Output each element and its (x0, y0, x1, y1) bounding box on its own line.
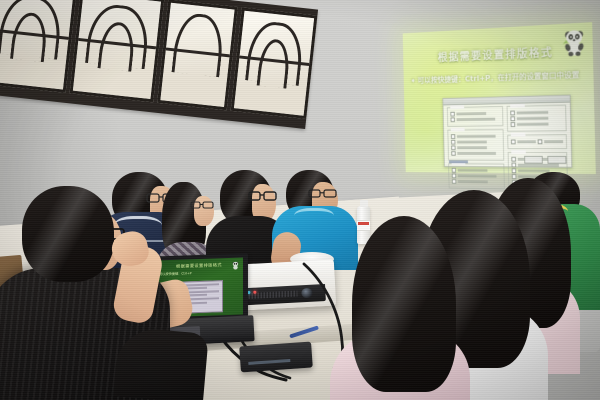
dialog-group (447, 129, 504, 161)
checkbox-icon[interactable] (450, 112, 454, 117)
dialog-row (452, 179, 501, 184)
dialog-row (510, 116, 562, 121)
dialog-label (518, 163, 559, 166)
dialog-row (451, 145, 500, 149)
dialog-group (507, 134, 567, 149)
dialog-label (457, 117, 495, 120)
dialog-label (544, 140, 563, 143)
bottle-cap (360, 200, 368, 207)
dialog-group-label (450, 105, 464, 109)
checkbox-icon[interactable] (511, 122, 516, 127)
dialog-help-link[interactable] (449, 160, 468, 163)
dialog-row (511, 121, 563, 126)
checkbox-icon[interactable] (511, 162, 516, 167)
dialog-row (451, 140, 500, 144)
dialog-ok-button[interactable] (524, 156, 543, 164)
checkbox-icon[interactable] (451, 134, 455, 139)
hair (22, 186, 114, 282)
bullet-marker-icon: ✦ (410, 77, 416, 87)
checkbox-icon[interactable] (452, 173, 456, 178)
checkbox-icon[interactable] (538, 139, 543, 144)
dialog-row (451, 134, 500, 139)
dialog-label (517, 140, 535, 143)
dialog-group-label (511, 133, 526, 137)
checkbox-icon[interactable] (451, 140, 455, 145)
dialog-group (507, 105, 567, 132)
dialog-group (448, 163, 505, 189)
dialog-label (517, 122, 548, 125)
hair-highlight (22, 186, 114, 282)
glasses-icon (248, 190, 278, 202)
checkbox-icon[interactable] (511, 157, 516, 162)
checkbox-icon[interactable] (510, 116, 515, 121)
checkbox-icon[interactable] (452, 168, 456, 173)
dialog-row (452, 168, 501, 173)
checkbox-icon[interactable] (512, 168, 517, 173)
dialog-group (447, 106, 504, 127)
classroom-photo: 根据需要设置排版格式 ✦可以按快捷键：Ctrl+P，在打开的设置窗口中设置 (0, 0, 600, 400)
dialog-group-label (451, 128, 465, 132)
adapter-stripe (248, 359, 290, 365)
dialog-label (457, 135, 495, 138)
dialog-row (451, 117, 500, 122)
collar (294, 208, 334, 227)
checkbox-icon[interactable] (451, 117, 455, 122)
hair (352, 216, 456, 392)
window-pane (0, 0, 77, 93)
checkbox-icon[interactable] (512, 174, 517, 179)
hair-highlight (352, 216, 456, 392)
window-pane (231, 7, 318, 119)
dialog-row (451, 151, 500, 155)
dialog-buttons (524, 156, 566, 164)
glasses-icon (190, 200, 214, 210)
dialog-row (511, 139, 563, 144)
checkbox-icon[interactable] (452, 179, 456, 184)
projected-slide: 根据需要设置排版格式 ✦可以按快捷键：Ctrl+P，在打开的设置窗口中设置 (403, 22, 596, 174)
dialog-row (450, 111, 499, 116)
dialog-group-label (511, 150, 526, 154)
laptop-slide-title: 根据需要设置排版格式 (155, 261, 243, 270)
checkbox-icon[interactable] (511, 139, 516, 144)
laptop-slide-bullet: 可以按快捷键：Ctrl+P (159, 271, 240, 278)
panda-mascot-icon (231, 261, 240, 270)
dialog-cancel-button[interactable] (547, 156, 566, 164)
dialog-label (457, 140, 486, 143)
checkbox-icon[interactable] (510, 110, 515, 115)
window-pane (70, 0, 165, 102)
glasses-icon (308, 188, 338, 199)
checkbox-icon[interactable] (451, 145, 455, 150)
dialog-label (517, 117, 548, 120)
dialog-row (452, 173, 501, 178)
dialog-label (517, 111, 548, 114)
dialog-group-label (510, 104, 525, 108)
dialog-label (458, 180, 487, 183)
checkbox-icon[interactable] (451, 151, 455, 156)
dialog-label (458, 169, 487, 172)
dialog-label (457, 146, 486, 149)
slide-dialog (442, 95, 572, 168)
power-adapter (239, 342, 313, 373)
window-pane (157, 0, 238, 110)
dialog-label (456, 112, 485, 115)
bottle-label-stripe (358, 222, 369, 225)
dialog-row (510, 110, 562, 115)
dialog-left-column (447, 106, 505, 192)
dialog-label (458, 174, 496, 177)
dialog-label (457, 152, 495, 155)
